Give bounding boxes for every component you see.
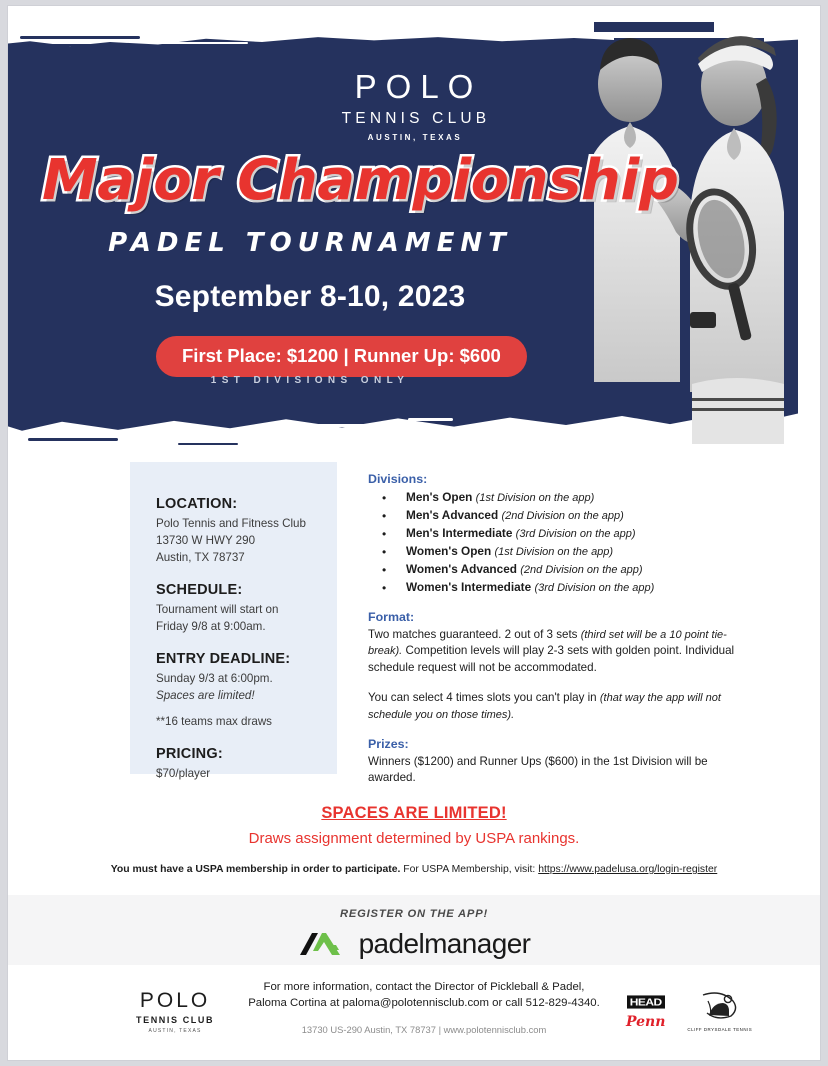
cliff-drysdale-caption: CLIFF DRYSDALE TENNIS	[687, 1027, 752, 1032]
format-text-b: Competition levels will play 2-3 sets wi…	[368, 644, 734, 674]
event-info-box: LOCATION: Polo Tennis and Fitness Club 1…	[130, 462, 337, 774]
division-note: (2nd Division on the app)	[520, 564, 642, 576]
entry-deadline-line: Sunday 9/3 at 6:00pm.	[156, 670, 337, 687]
prize-badge: First Place: $1200 | Runner Up: $600	[156, 336, 527, 377]
brush-fleck	[178, 443, 238, 445]
division-name: Men's Intermediate	[406, 526, 512, 540]
division-name: Women's Open	[406, 544, 491, 558]
format-heading: Format:	[368, 610, 738, 624]
uspa-membership-link[interactable]: https://www.padelusa.org/login-register	[538, 864, 717, 875]
divisions-heading: Divisions:	[368, 472, 738, 486]
format-slots-text: You can select 4 times slots you can't p…	[368, 691, 600, 704]
prizes-text: Winners ($1200) and Runner Ups ($600) in…	[368, 754, 738, 787]
division-name: Women's Intermediate	[406, 580, 531, 594]
spaces-limited-text: SPACES ARE LIMITED!	[8, 804, 820, 823]
head-penn-logo: HEAD Penn	[626, 993, 665, 1030]
location-heading: LOCATION:	[156, 496, 337, 512]
entry-max-draws-note: **16 teams max draws	[156, 713, 337, 730]
contact-line-1: For more information, contact the Direct…	[224, 979, 624, 995]
uspa-membership-note: You must have a USPA membership in order…	[8, 864, 820, 875]
location-line: 13730 W HWY 290	[156, 532, 337, 549]
schedule-line: Tournament will start on	[156, 601, 337, 618]
brush-fleck	[20, 36, 140, 39]
division-item: Men's Open (1st Division on the app)	[368, 489, 738, 507]
event-date: September 8-10, 2023	[8, 280, 820, 314]
division-item: Men's Intermediate (3rd Division on the …	[368, 525, 738, 543]
brush-fleck	[308, 424, 368, 427]
pricing-line: $70/player	[156, 765, 337, 782]
location-line: Polo Tennis and Fitness Club	[156, 515, 337, 532]
draws-assignment-text: Draws assignment determined by USPA rank…	[8, 830, 820, 847]
division-item: Women's Open (1st Division on the app)	[368, 543, 738, 561]
divisions-list: Men's Open (1st Division on the app) Men…	[368, 489, 738, 597]
head-wordmark: HEAD	[627, 995, 665, 1008]
division-note: (1st Division on the app)	[476, 492, 595, 504]
flyer-page: POLO TENNIS CLUB AUSTIN, TEXAS Major Cha…	[8, 6, 820, 1060]
footer-contact-block: For more information, contact the Direct…	[224, 979, 624, 1035]
uspa-rest-text: For USPA Membership, visit:	[400, 864, 538, 875]
pricing-heading: PRICING:	[156, 746, 337, 762]
entry-spaces-note: Spaces are limited!	[156, 687, 337, 704]
division-note: (3rd Division on the app)	[516, 528, 636, 540]
format-paragraph-1: Two matches guaranteed. 2 out of 3 sets …	[368, 627, 738, 677]
footer-logo-location-text: AUSTIN, TEXAS	[136, 1028, 214, 1034]
logo-tennis-club-text: TENNIS CLUB	[8, 110, 820, 128]
hero-banner: POLO TENNIS CLUB AUSTIN, TEXAS Major Cha…	[8, 6, 820, 448]
division-name: Men's Open	[406, 490, 472, 504]
schedule-line: Friday 9/8 at 9:00am.	[156, 618, 337, 635]
format-paragraph-2: You can select 4 times slots you can't p…	[368, 690, 738, 724]
footer-sponsor-logos: HEAD Penn CLIFF DRYSDALE TENNIS	[626, 991, 752, 1032]
page-footer: POLO TENNIS CLUB AUSTIN, TEXAS For more …	[8, 971, 820, 1060]
division-name: Women's Advanced	[406, 562, 517, 576]
entry-deadline-heading: ENTRY DEADLINE:	[156, 651, 337, 667]
brush-fleck	[28, 438, 118, 441]
app-registration-band: REGISTER ON THE APP! padelmanager	[8, 895, 820, 965]
division-note: (1st Division on the app)	[494, 546, 613, 558]
event-subtitle: PADEL TOURNAMENT	[8, 228, 820, 258]
division-note: (2nd Division on the app)	[501, 510, 623, 522]
register-on-app-label: REGISTER ON THE APP!	[8, 908, 820, 920]
uspa-bold-text: You must have a USPA membership in order…	[111, 864, 401, 875]
logo-location-text: AUSTIN, TEXAS	[8, 133, 820, 142]
division-name: Men's Advanced	[406, 508, 498, 522]
contact-line-2: Paloma Cortina at paloma@polotennisclub.…	[224, 995, 624, 1011]
division-item: Men's Advanced (2nd Division on the app)	[368, 507, 738, 525]
divisions-only-note: 1ST DIVISIONS ONLY	[8, 375, 820, 386]
footer-address: 13730 US-290 Austin, TX 78737 | www.polo…	[224, 1024, 624, 1035]
footer-logo-tennis-text: TENNIS CLUB	[136, 1015, 214, 1025]
padelmanager-wordmark: padelmanager	[359, 928, 531, 960]
division-note: (3rd Division on the app)	[534, 582, 654, 594]
padelmanager-logo[interactable]: padelmanager	[8, 928, 820, 960]
footer-polo-logo: POLO TENNIS CLUB AUSTIN, TEXAS	[136, 989, 214, 1034]
polo-club-logo: POLO TENNIS CLUB AUSTIN, TEXAS	[8, 70, 820, 142]
cliff-drysdale-logo: CLIFF DRYSDALE TENNIS	[687, 991, 752, 1032]
penn-wordmark: Penn	[626, 1014, 665, 1030]
division-item: Women's Intermediate (3rd Division on th…	[368, 579, 738, 597]
details-column: Divisions: Men's Open (1st Division on t…	[368, 472, 738, 787]
brush-fleck	[158, 42, 248, 44]
logo-polo-text: POLO	[8, 70, 820, 105]
cliff-drysdale-mark-icon	[699, 991, 741, 1021]
call-to-action: SPACES ARE LIMITED! Draws assignment det…	[8, 804, 820, 875]
brush-fleck	[28, 44, 98, 46]
division-item: Women's Advanced (2nd Division on the ap…	[368, 561, 738, 579]
footer-logo-polo-text: POLO	[136, 989, 214, 1013]
padelmanager-mark-icon	[298, 929, 350, 959]
format-text-a: Two matches guaranteed. 2 out of 3 sets	[368, 628, 581, 641]
location-line: Austin, TX 78737	[156, 549, 337, 566]
brush-fleck	[408, 418, 453, 421]
prizes-heading: Prizes:	[368, 737, 738, 751]
schedule-heading: SCHEDULE:	[156, 582, 337, 598]
event-title: Major Championship	[42, 148, 679, 213]
